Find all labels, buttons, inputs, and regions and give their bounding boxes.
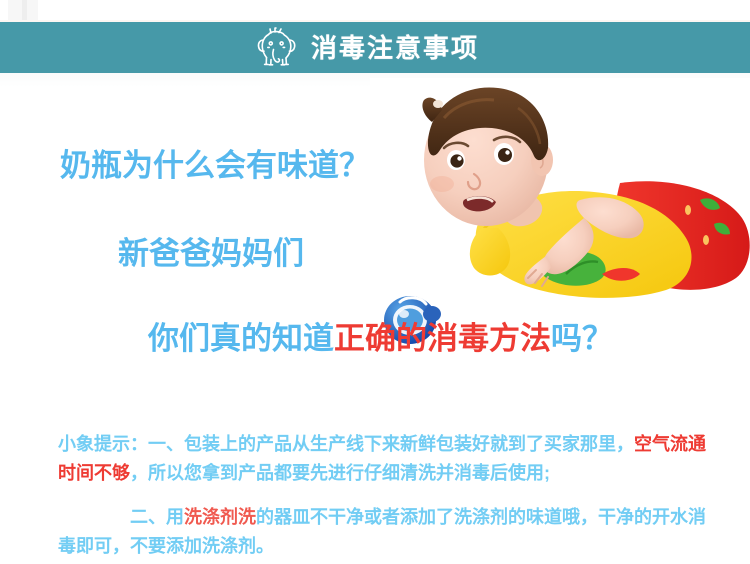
headline-line-1: 奶瓶为什么会有味道？ xyxy=(60,150,750,181)
top-scan-artifact-bar xyxy=(22,0,27,22)
banner-title: 消毒注意事项 xyxy=(311,35,479,61)
section-banner: 消毒注意事项 xyxy=(0,22,750,73)
tip-2-text-before: 用 xyxy=(166,507,184,527)
headline-line-3-part1: 你们真的知道 xyxy=(148,321,334,356)
headline-line-3-highlight: 正确的消毒方法 xyxy=(334,321,551,356)
headline-block: 奶瓶为什么会有味道？ 新爸爸妈妈们 你们真的知道正确的消毒方法吗？ xyxy=(0,150,750,354)
tips-block: 小象提示：一、包装上的产品从生产线下来新鲜包装好就到了买家那里，空气流通时间不够… xyxy=(58,430,718,561)
tip-1-text-before: 包装上的产品从生产线下来新鲜包装好就到了买家那里， xyxy=(184,434,634,454)
page-root: 消毒注意事项 xyxy=(0,0,750,564)
tip-paragraph-1: 小象提示：一、包装上的产品从生产线下来新鲜包装好就到了买家那里，空气流通时间不够… xyxy=(58,430,718,488)
tip-paragraph-2: 二、用洗涤剂洗的器皿不干净或者添加了洗涤剂的味道哦，干净的开水消毒即可，不要添加… xyxy=(58,503,718,561)
tip-1-number: 一、 xyxy=(148,434,184,454)
tip-1-text-after: ，所以您拿到产品都要先进行仔细清洗并消毒后使用; xyxy=(130,463,550,483)
tip-label: 小象提示： xyxy=(58,434,148,454)
tip-2-number: 二、 xyxy=(130,507,166,527)
elephant-icon xyxy=(255,26,301,68)
headline-line-3: 你们真的知道正确的消毒方法吗？ xyxy=(148,323,750,354)
headline-line-2: 新爸爸妈妈们 xyxy=(118,238,750,269)
headline-line-3-part2: 吗？ xyxy=(551,321,613,356)
tip-2-highlight: 洗涤剂洗 xyxy=(184,507,256,527)
banner-content: 消毒注意事项 xyxy=(255,28,479,68)
